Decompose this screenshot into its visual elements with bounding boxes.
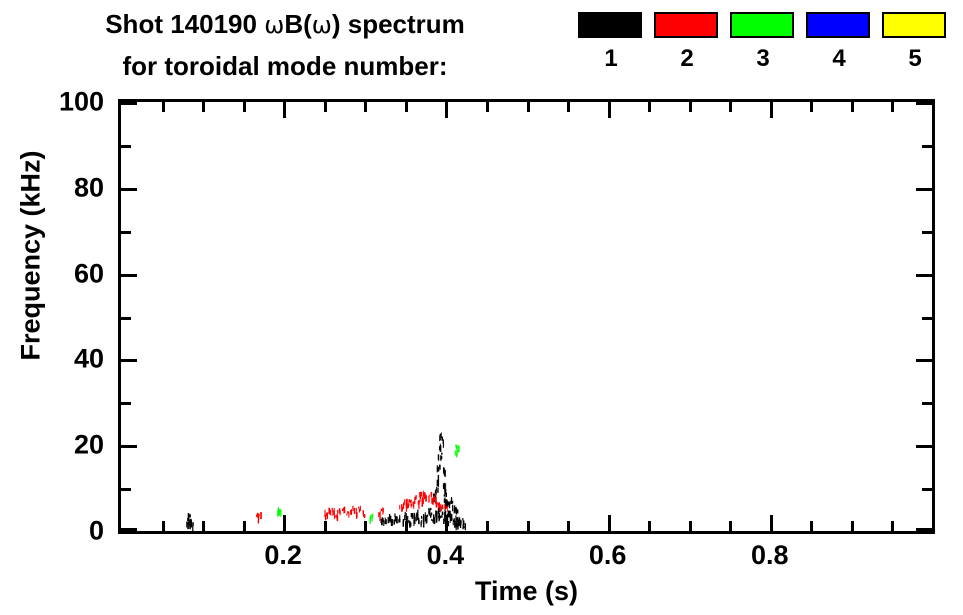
x-tick-label-0.4: 0.4 [427, 540, 465, 571]
omega-symbol-2: ω [312, 11, 332, 39]
legend-item-1[interactable]: 1 [578, 12, 644, 80]
legend-label-5: 5 [882, 38, 948, 80]
legend-label-1: 1 [578, 38, 644, 80]
legend: 12345 [578, 12, 958, 90]
legend-item-2[interactable]: 2 [654, 12, 720, 80]
legend-swatch-2 [654, 12, 718, 38]
legend-item-3[interactable]: 3 [730, 12, 796, 80]
x-axis-title: Time (s) [118, 576, 935, 607]
title-suffix: ) spectrum [332, 9, 465, 39]
x-tick-label-0.8: 0.8 [751, 540, 789, 571]
y-tick-label-60: 60 [74, 258, 104, 289]
y-tick-label-40: 40 [74, 344, 104, 375]
spectrum-data-layer [121, 102, 932, 531]
legend-label-4: 4 [806, 38, 872, 80]
title-mid: B( [284, 9, 311, 39]
legend-swatch-5 [882, 12, 946, 38]
chart-title-line-1: Shot 140190 ωB(ω) spectrum [0, 4, 570, 46]
y-tick-label-20: 20 [74, 430, 104, 461]
omega-symbol-1: ω [264, 11, 284, 39]
x-axis-tick-labels: 0.20.40.60.8 [118, 540, 935, 580]
plot-area [121, 102, 932, 531]
legend-item-4[interactable]: 4 [806, 12, 872, 80]
plot-frame [118, 99, 935, 534]
title-prefix: Shot 140190 [105, 9, 264, 39]
y-tick-label-0: 0 [89, 516, 104, 547]
legend-swatch-4 [806, 12, 870, 38]
series-3 [277, 445, 459, 524]
legend-swatch-3 [730, 12, 794, 38]
chart-title-line-2: for toroidal mode number: [0, 46, 570, 87]
legend-label-2: 2 [654, 38, 720, 80]
legend-label-3: 3 [730, 38, 796, 80]
x-tick-label-0.6: 0.6 [589, 540, 627, 571]
legend-item-5[interactable]: 5 [882, 12, 948, 80]
x-tick-label-0.2: 0.2 [264, 540, 302, 571]
y-tick-label-80: 80 [74, 172, 104, 203]
y-tick-label-100: 100 [59, 87, 104, 118]
y-axis-title: Frequency (kHz) [16, 131, 47, 381]
chart-title-block: Shot 140190 ωB(ω) spectrum for toroidal … [0, 4, 570, 87]
legend-swatch-1 [578, 12, 642, 38]
